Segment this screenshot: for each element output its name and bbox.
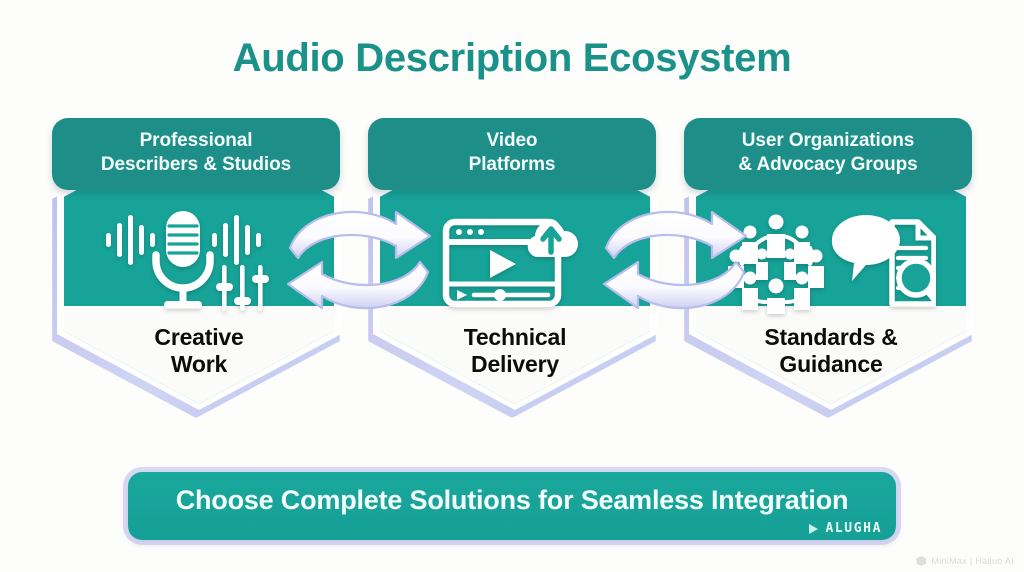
cta-banner-text: Choose Complete Solutions for Seamless I… (128, 485, 896, 516)
pillar-header-pill[interactable]: User Organizations & Advocacy Groups (684, 118, 972, 190)
pillar-header-line1: User Organizations (702, 129, 954, 153)
bidirectional-exchange-arrows-icon (284, 196, 434, 324)
pillar-header-pill[interactable]: Professional Describers & Studios (52, 118, 340, 190)
pillar-label: Technical Delivery (380, 324, 650, 378)
pillar-header-pill[interactable]: Video Platforms (368, 118, 656, 190)
watermark-text: MiniMax | Hailuo AI (931, 556, 1014, 566)
pillar-header-line2: & Advocacy Groups (702, 153, 954, 177)
pillar-header-line2: Describers & Studios (70, 153, 322, 177)
bidirectional-exchange-arrows-icon (600, 196, 750, 324)
alugha-wordmark: ALUGHA (825, 521, 882, 536)
pillar-label-line1: Creative (154, 324, 243, 350)
pillar-header-line1: Video (386, 129, 638, 153)
minimax-mark-icon (916, 556, 926, 566)
infographic-canvas: Audio Description Ecosystem (0, 0, 1024, 572)
pillar-label: Standards & Guidance (696, 324, 966, 378)
pillar-header-line2: Platforms (386, 153, 638, 177)
pillar-label-line2: Work (171, 351, 227, 377)
pillar-label-line1: Technical (464, 324, 567, 350)
play-triangle-icon (809, 524, 818, 534)
pillar-label-line2: Delivery (471, 351, 559, 377)
page-title: Audio Description Ecosystem (0, 36, 1024, 81)
watermark: MiniMax | Hailuo AI (916, 556, 1014, 566)
pillar-label: Creative Work (64, 324, 334, 378)
pillar-label-line1: Standards & (764, 324, 897, 350)
pillar-header-line1: Professional (70, 129, 322, 153)
cta-banner[interactable]: Choose Complete Solutions for Seamless I… (128, 472, 896, 540)
alugha-logo: ALUGHA (809, 521, 882, 536)
pillar-label-line2: Guidance (779, 351, 882, 377)
